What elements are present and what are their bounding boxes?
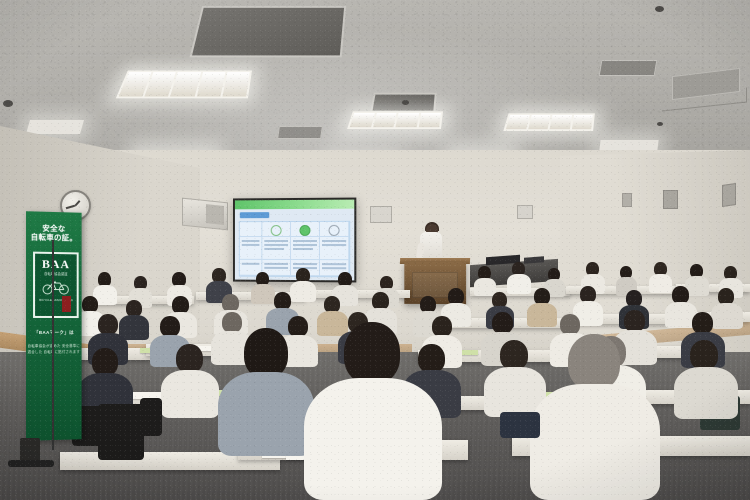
smoke-detector-icon <box>402 100 409 105</box>
smoke-detector-icon <box>657 122 663 126</box>
attendee-bag <box>500 412 540 438</box>
slide-header-bar <box>235 200 354 210</box>
circle-gray-icon <box>329 225 340 236</box>
baa-mark-subtitle: 自転車協会認証 <box>35 271 77 277</box>
louvered-fluorescent-light <box>599 140 658 150</box>
air-vent-panel <box>599 60 658 76</box>
louvered-fluorescent-light <box>26 120 84 134</box>
slide-cell <box>291 222 320 237</box>
attendee-bag <box>98 404 144 460</box>
air-conditioner-unit <box>517 205 533 219</box>
air-conditioner-unit <box>182 198 228 231</box>
slide-cell <box>240 237 263 259</box>
slide-cell <box>263 222 292 237</box>
circle-outline-icon <box>271 225 282 236</box>
slide-title-block <box>240 212 269 218</box>
slide-cell <box>320 237 349 260</box>
projection-screen-surface <box>235 200 354 281</box>
wall-speaker <box>722 183 736 207</box>
air-vent-panel <box>189 6 346 57</box>
banner-pole <box>52 240 54 450</box>
air-conditioner-unit <box>370 206 392 223</box>
smoke-detector-icon <box>3 100 13 107</box>
circle-filled-icon <box>300 225 311 236</box>
slide-comparison-table <box>239 221 350 278</box>
wall-speaker <box>622 193 632 207</box>
red-sign-marker <box>62 296 71 312</box>
seminar-room-photo: 安全な 自転車の証。 BAA 自転車協会認証 BICYCLE ASSOCIATI… <box>0 0 750 500</box>
banner-base <box>8 460 54 467</box>
clock-minute-hand <box>66 205 75 209</box>
louvered-fluorescent-light <box>116 71 252 99</box>
slide-cell <box>291 237 320 260</box>
slide-cell <box>240 222 263 237</box>
attendee-bag <box>140 398 162 436</box>
louvered-fluorescent-light <box>347 111 443 129</box>
louvered-fluorescent-light <box>503 113 595 131</box>
bicycle-icon <box>41 278 71 295</box>
slide-cell <box>263 237 292 259</box>
wall-speaker <box>663 190 678 209</box>
smoke-detector-icon <box>655 6 664 12</box>
projection-screen <box>233 198 356 283</box>
air-vent-panel <box>277 126 323 139</box>
baa-certification-mark: BAA 自転車協会認証 BICYCLE ASSOCIATION <box>33 252 79 318</box>
slide-cell <box>320 222 349 237</box>
clock-hour-hand <box>74 200 80 207</box>
